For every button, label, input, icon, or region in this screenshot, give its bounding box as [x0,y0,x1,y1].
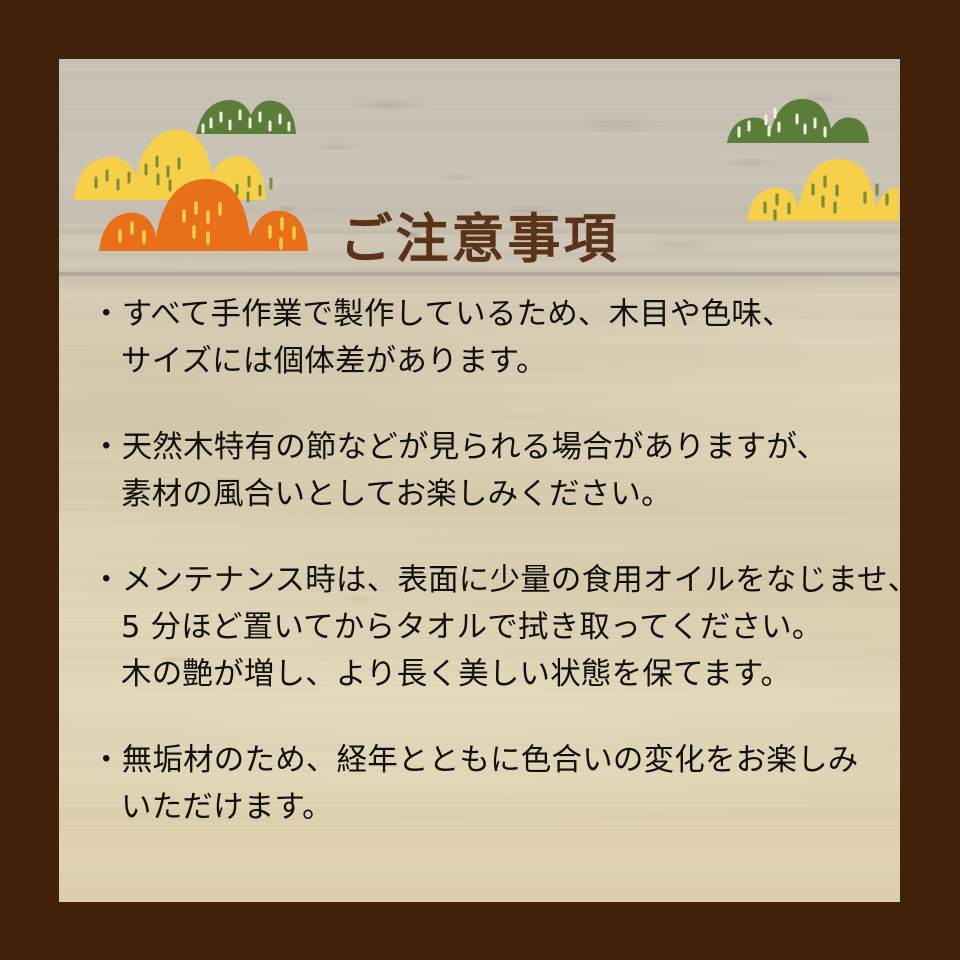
yellow-hills-icon [74,130,271,201]
note-line: ・天然木特有の節などが見られる場合がありますが、 [91,424,891,471]
note-line: 木の艶が増し、より長く美しい状態を保てます。 [91,651,891,698]
page-title: ご注意事項 [59,197,900,273]
note-line: 素材の風合いとしてお楽しみください。 [91,471,891,518]
notice-poster: ご注意事項 ・すべて手作業で製作しているため、木目や色味、 サイズには個体差があ… [0,0,960,960]
note-item: ・天然木特有の節などが見られる場合がありますが、 素材の風合いとしてお楽しみくだ… [91,424,891,518]
note-line: ・すべて手作業で製作しているため、木目や色味、 [91,291,891,338]
note-item: ・すべて手作業で製作しているため、木目や色味、 サイズには個体差があります。 [91,291,891,385]
note-line: ・無垢材のため、経年とともに色合いの変化をお楽しみ [91,737,891,784]
note-item: ・無垢材のため、経年とともに色合いの変化をお楽しみ いただけます。 [91,737,891,831]
green-hill-icon [196,100,296,134]
note-line: 5 分ほど置いてからタオルで拭き取ってください。 [91,604,891,651]
note-line: ・メンテナンス時は、表面に少量の食用オイルをなじませ、 [91,557,891,604]
note-item: ・メンテナンス時は、表面に少量の食用オイルをなじませ、 5 分ほど置いてからタオ… [91,557,891,698]
green-hill-icon [727,99,869,143]
note-line: いただけます。 [91,784,891,831]
notes-list: ・すべて手作業で製作しているため、木目や色味、 サイズには個体差があります。 ・… [91,291,891,831]
wood-panel: ご注意事項 ・すべて手作業で製作しているため、木目や色味、 サイズには個体差があ… [59,59,900,902]
note-line: サイズには個体差があります。 [91,338,891,385]
